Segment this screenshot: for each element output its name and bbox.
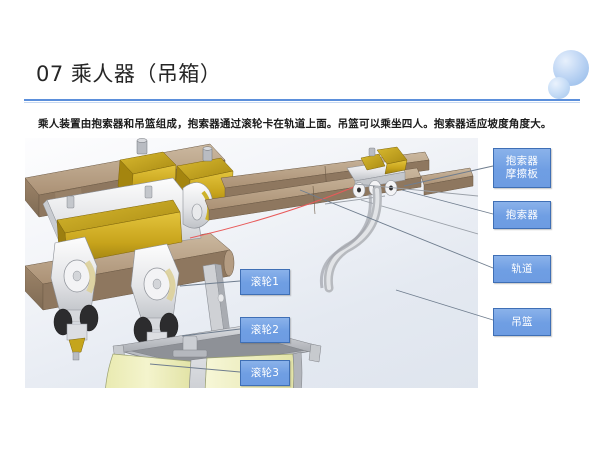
callout-cabin[interactable]: 吊篮 (493, 308, 551, 336)
page-title: 07 乘人器（吊箱） (36, 58, 221, 88)
callout-roller-1[interactable]: 滚轮1 (240, 269, 290, 295)
slide-canvas: 07 乘人器（吊箱） 乘人装置由抱索器和吊篮组成，抱索器通过滚轮卡在轨道上面。吊… (0, 0, 600, 450)
callout-roller-3[interactable]: 滚轮3 (240, 360, 290, 386)
decorative-circle-small-icon (548, 77, 570, 99)
callout-grip[interactable]: 抱索器 (493, 201, 551, 229)
callout-friction-plate[interactable]: 抱索器 摩擦板 (493, 148, 551, 188)
roller-assembly-left (51, 237, 98, 360)
cad-illustration (25, 138, 478, 388)
callout-roller-2[interactable]: 滚轮2 (240, 317, 290, 343)
subtitle-description: 乘人装置由抱索器和吊篮组成，抱索器通过滚轮卡在轨道上面。吊篮可以乘坐四人。抱索器… (38, 116, 552, 131)
title-divider-shadow (24, 102, 580, 103)
title-divider (24, 99, 580, 101)
hanger-arm (321, 190, 377, 288)
callout-track[interactable]: 轨道 (493, 255, 551, 283)
